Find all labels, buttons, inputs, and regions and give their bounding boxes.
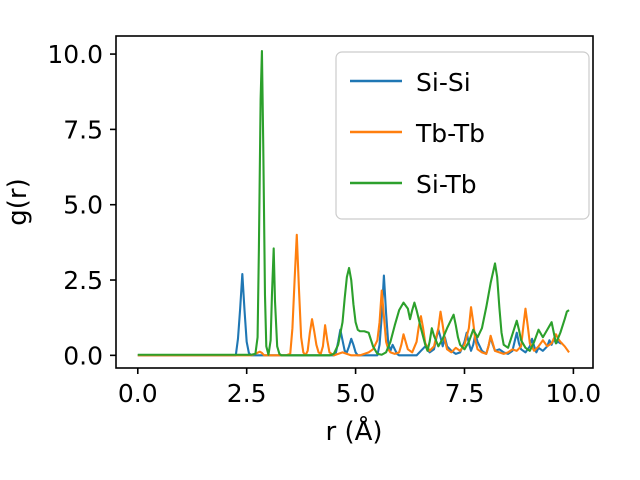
legend[interactable]: Si-SiTb-TbSi-Tb [336, 52, 589, 219]
y-tick-label: 7.5 [63, 115, 103, 144]
x-tick-label: 10.0 [546, 379, 602, 408]
x-tick-label: 7.5 [445, 379, 485, 408]
y-tick-label: 5.0 [63, 191, 103, 220]
y-axis-label: g(r) [3, 178, 33, 225]
x-tick-label: 5.0 [336, 379, 376, 408]
legend-label-si-tb: Si-Tb [416, 170, 477, 199]
y-tick-label: 2.5 [63, 266, 103, 295]
y-tick-label: 0.0 [63, 341, 103, 370]
legend-label-si-si: Si-Si [416, 68, 471, 97]
legend-label-tb-tb: Tb-Tb [415, 119, 485, 148]
y-tick-label: 10.0 [47, 40, 103, 69]
x-tick-label: 2.5 [227, 379, 267, 408]
x-axis-ticks: 0.02.55.07.510.0 [118, 368, 601, 408]
y-axis-ticks: 0.02.55.07.510.0 [47, 40, 116, 370]
rdf-chart-figure: 0.02.55.07.510.0 0.02.55.07.510.0 r (Å) … [0, 0, 640, 480]
x-tick-label: 0.0 [118, 379, 158, 408]
plot-canvas: 0.02.55.07.510.0 0.02.55.07.510.0 r (Å) … [0, 0, 640, 480]
x-axis-label: r (Å) [325, 415, 382, 447]
